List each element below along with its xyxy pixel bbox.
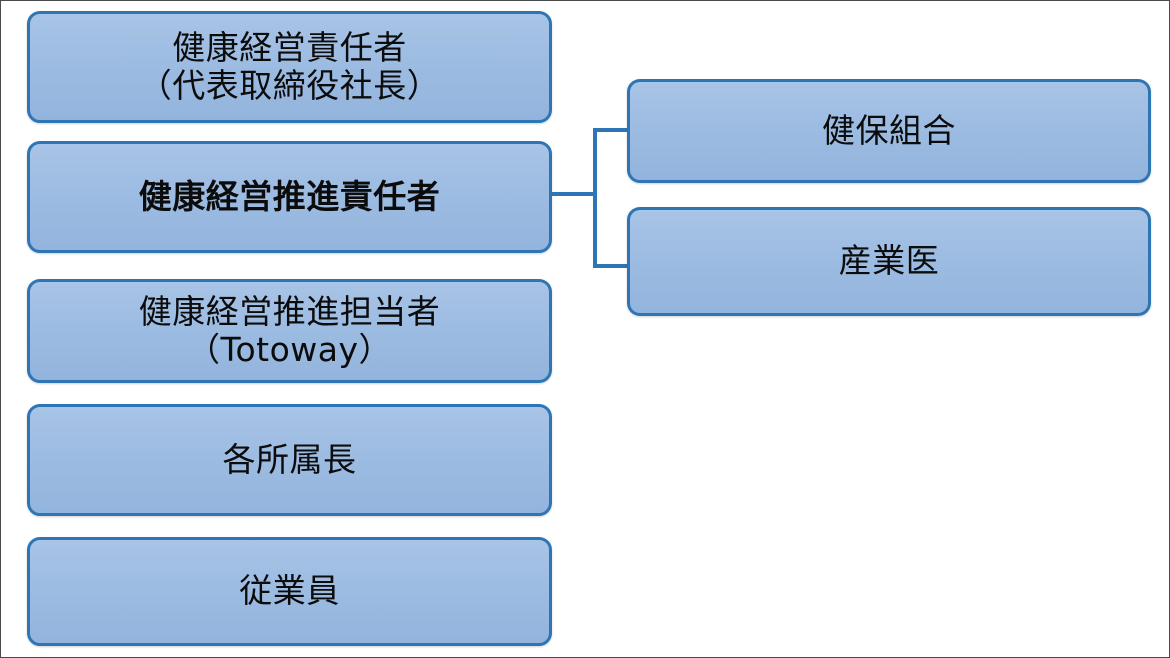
node-department-heads[interactable]: 各所属長: [27, 404, 552, 516]
node-health-management-promotion-officer[interactable]: 健康経営推進責任者: [27, 141, 552, 253]
connector-trunk-vertical: [593, 128, 597, 268]
node-health-management-officer[interactable]: 健康経営責任者 （代表取締役社長）: [27, 11, 552, 123]
node-occupational-physician[interactable]: 産業医: [627, 207, 1151, 316]
org-chart-canvas: 健康経営責任者 （代表取締役社長） 健康経営推進責任者 健康経営推進担当者 （T…: [0, 0, 1170, 658]
connector-stem-horizontal: [550, 192, 597, 196]
node-employees[interactable]: 従業員: [27, 537, 552, 646]
node-health-management-promotion-staff[interactable]: 健康経営推進担当者 （Totoway）: [27, 279, 552, 383]
node-health-insurance-association[interactable]: 健保組合: [627, 79, 1151, 183]
connector-branch-health-insurance-association: [593, 128, 629, 132]
connector-branch-occupational-physician: [593, 264, 629, 268]
